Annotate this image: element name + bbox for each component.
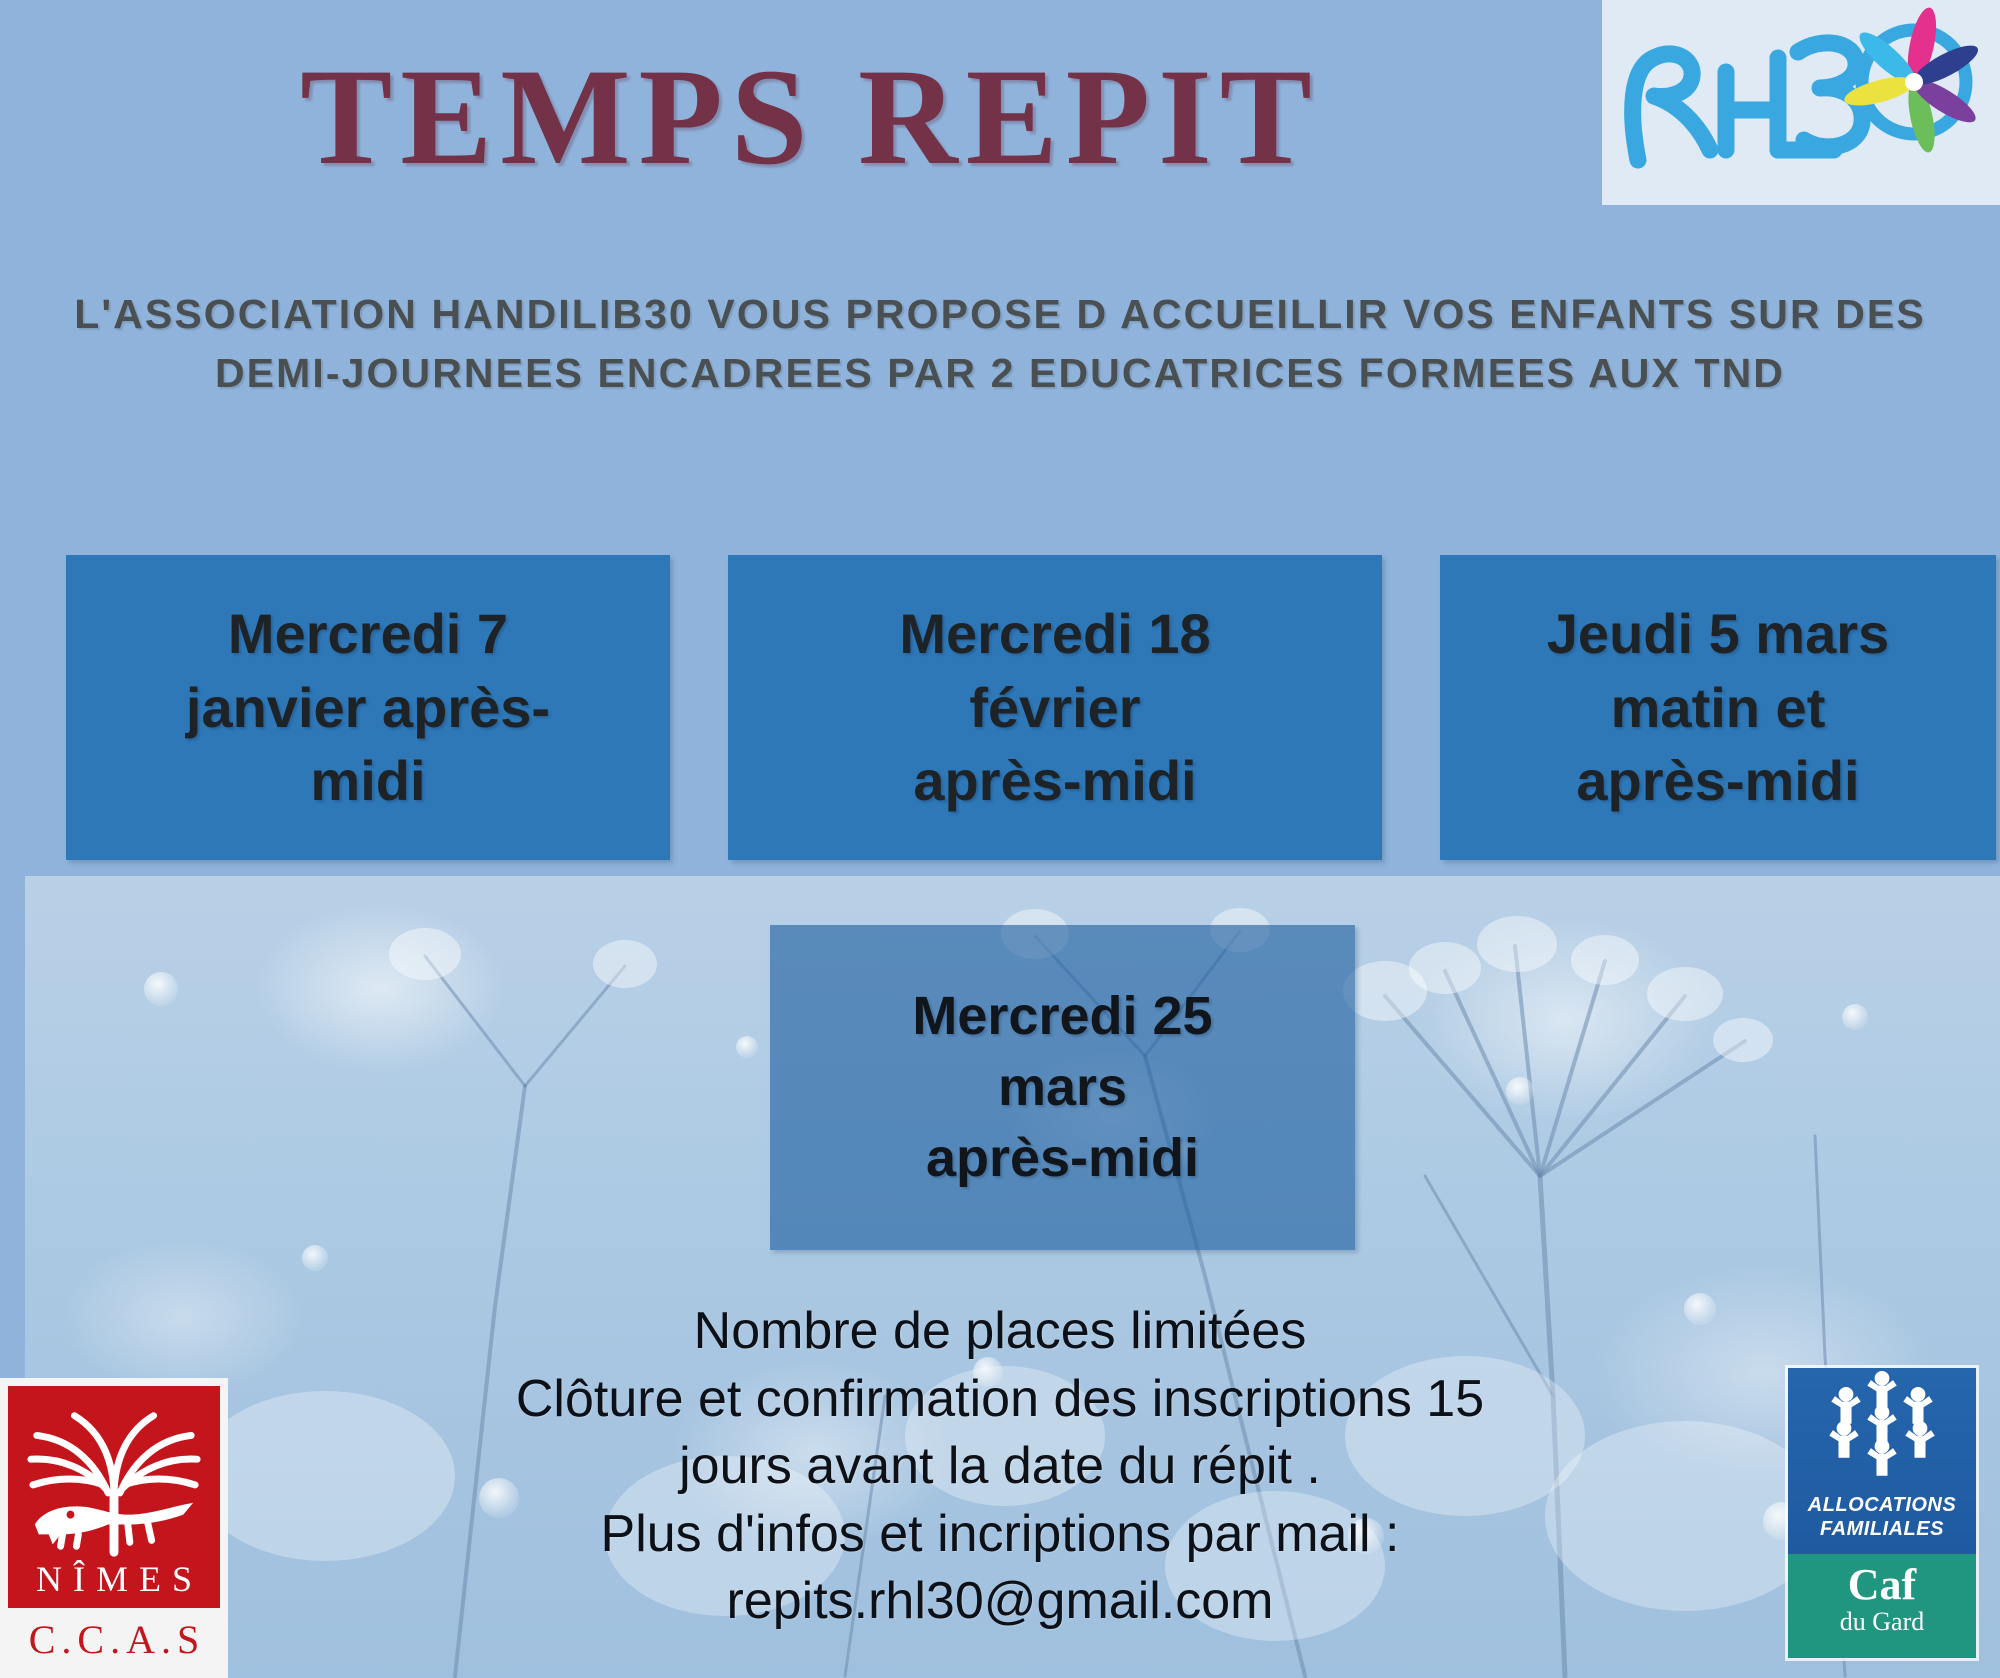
caf-name-label: Caf	[1788, 1554, 1976, 1608]
poster-canvas: TEMPS REPIT	[0, 0, 2000, 1678]
date-card-4-label: Mercredi 25 mars après-midi	[793, 981, 1331, 1195]
rh30-logo	[1602, 0, 2000, 205]
nimes-city-label: NÎMES	[8, 1558, 220, 1600]
caf-logo-top: ALLOCATIONS FAMILIALES	[1788, 1368, 1976, 1554]
caf-du-gard-logo: ALLOCATIONS FAMILIALES Caf du Gard	[1788, 1368, 1976, 1658]
date-card-3: Jeudi 5 mars matin et après-midi	[1440, 555, 1996, 860]
date-card-4: Mercredi 25 mars après-midi	[770, 925, 1355, 1250]
poster-title: TEMPS REPIT	[0, 48, 1620, 186]
registration-info: Nombre de places limitées Clôture et con…	[300, 1298, 1700, 1636]
nimes-emblem: NÎMES	[8, 1386, 220, 1608]
rh30-logo-mark	[1602, 0, 2000, 205]
allocations-familiales-figures-icon	[1788, 1368, 1976, 1496]
intro-paragraph: L'ASSOCIATION HANDILIB30 VOUS PROPOSE D …	[50, 285, 1950, 402]
date-card-1-label: Mercredi 7 janvier après- midi	[90, 597, 646, 819]
allocations-familiales-label: ALLOCATIONS FAMILIALES	[1788, 1494, 1976, 1541]
caf-logo-bottom: Caf du Gard	[1788, 1554, 1976, 1658]
date-card-1: Mercredi 7 janvier après- midi	[66, 555, 670, 860]
date-card-2: Mercredi 18 février après-midi	[728, 555, 1382, 860]
caf-region-label: du Gard	[1788, 1608, 1976, 1637]
nimes-ccas-logo: NÎMES C.C.A.S	[0, 1378, 228, 1678]
date-card-2-label: Mercredi 18 février après-midi	[754, 597, 1356, 819]
date-card-3-label: Jeudi 5 mars matin et après-midi	[1462, 597, 1974, 819]
ccas-label: C.C.A.S	[0, 1616, 228, 1663]
nimes-crocodile-palm-icon	[8, 1386, 220, 1559]
